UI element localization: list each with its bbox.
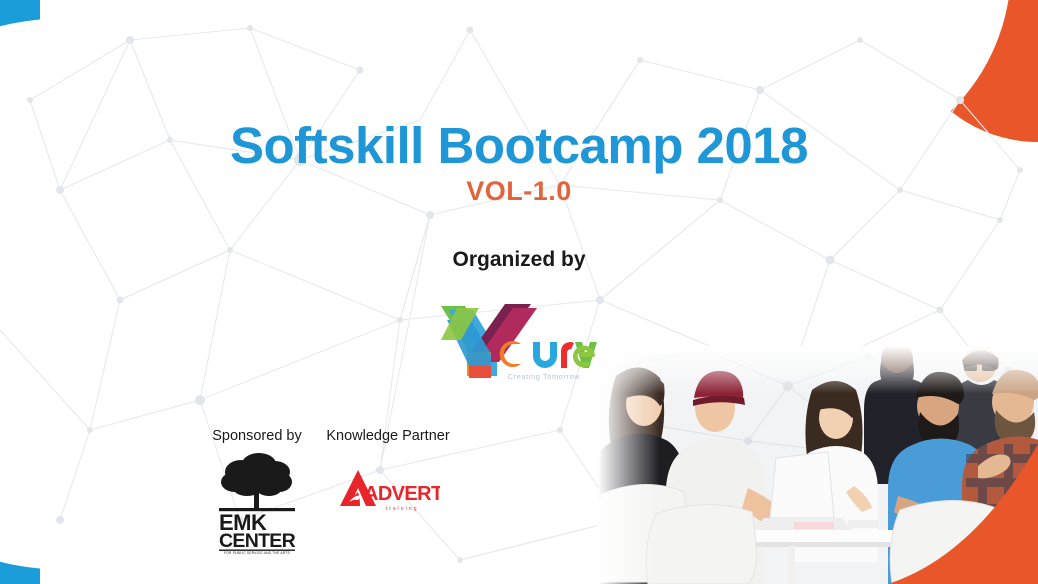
sponsor-block-advert: Knowledge Partner ADVERT training	[318, 428, 458, 518]
volume-subtitle: VOL-1.0	[0, 176, 1038, 207]
sponsor-block-emk: Sponsored by EMK CEN	[198, 428, 316, 554]
organizer-logo-ycurve: Creating Tomorrow	[439, 300, 599, 382]
advert-wordmark: ADVERT	[364, 483, 440, 505]
poster-canvas: Softskill Bootcamp 2018 VOL-1.0 Organize…	[0, 0, 1038, 584]
advert-logo: ADVERT training	[336, 466, 440, 518]
knowledge-partner-label: Knowledge Partner	[318, 428, 458, 444]
sponsored-by-label: Sponsored by	[198, 428, 316, 444]
ycurve-wordmark	[500, 341, 597, 368]
advert-tagline: training	[386, 506, 419, 512]
ycurve-tagline: Creating Tomorrow	[508, 372, 581, 381]
emk-line2: CENTER	[219, 530, 296, 552]
organized-by-label: Organized by	[0, 248, 1038, 272]
page-title: Softskill Bootcamp 2018	[0, 116, 1038, 175]
corner-shape-orange-bottom-right	[878, 444, 1038, 584]
emk-tagline: FOR PUBLIC SERVICE AND THE ARTS	[224, 551, 291, 554]
ycurve-y-mark	[441, 304, 537, 378]
emk-center-logo: EMK CENTER FOR PUBLIC SERVICE AND THE AR…	[211, 450, 303, 554]
